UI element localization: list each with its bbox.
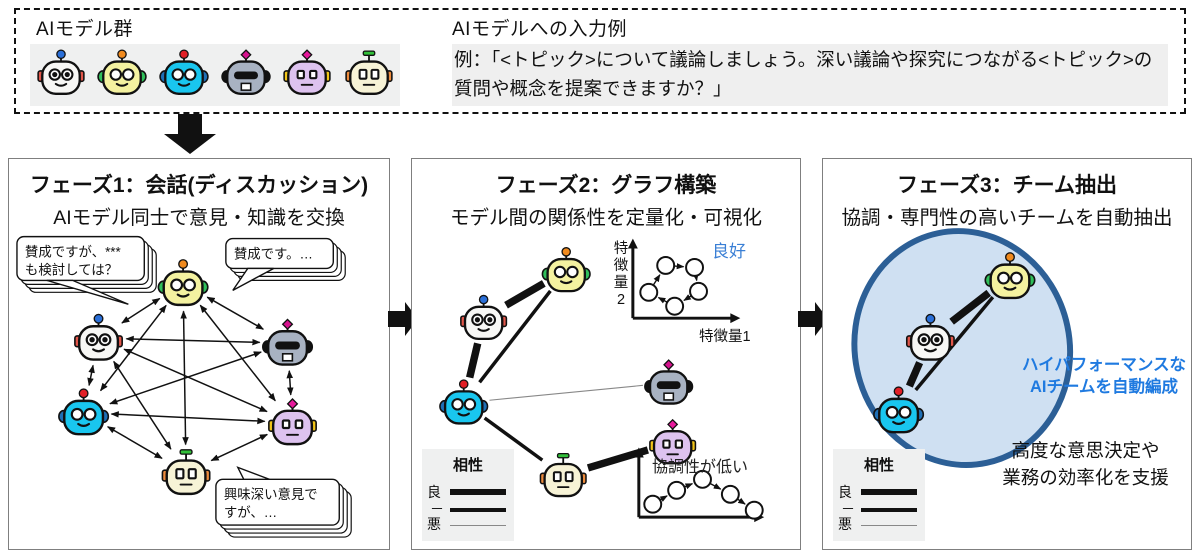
speech-bubble-bottom-line-2: すが、… — [224, 505, 277, 520]
edge-gray-purple — [289, 371, 290, 395]
node-robot-gray — [263, 319, 312, 364]
node-robot-cream — [162, 450, 209, 494]
phase2-panel: フェーズ2：グラフ構築 モデル間の関係性を定量化・可視化 — [411, 158, 801, 550]
phase3-legend: 相性 良 － 悪 — [833, 449, 925, 541]
good-chart-yarrow — [628, 239, 638, 249]
phase3-panel: フェーズ3：チーム抽出 協調・専門性の高いチームを自動抽出 — [822, 158, 1192, 550]
phase3-footer-text: 高度な意思決定や 業務の効率化を支援 — [983, 437, 1188, 491]
edge-white-yellow — [122, 299, 160, 323]
model-avatar-robot-cream — [343, 47, 395, 104]
node-robot-yellow — [158, 260, 207, 305]
models-group-title: AIモデル群 — [36, 14, 133, 41]
robot-gray-icon — [220, 47, 272, 99]
phase3-highlight-text: ハイパフォーマンスな AIチームを自動編成 — [1018, 354, 1190, 398]
phase2-legend-title: 相性 — [422, 454, 514, 475]
node-robot-purple — [269, 399, 316, 444]
node-robot-white — [75, 314, 122, 359]
bad-chart-link-3 — [738, 499, 745, 504]
edge-purple-yellow — [200, 305, 275, 400]
robot-cream-icon — [343, 47, 395, 99]
phase2-legend: 相性 良 － 悪 — [422, 449, 514, 541]
node-robot-white — [461, 295, 507, 338]
phase2-legend-bar-weak — [450, 525, 506, 526]
phase3-legend-bar-strong — [861, 489, 917, 495]
phase3-footer-line-2: 業務の効率化を支援 — [1002, 467, 1169, 488]
down-arrow-icon — [158, 114, 222, 154]
good-chart-point-3 — [690, 283, 707, 300]
node-robot-cyan — [59, 389, 108, 434]
model-avatar-robot-white — [35, 47, 87, 104]
edge-white-purple — [124, 349, 267, 411]
speech-bubble-left-line-1: 賛成ですが、*** — [25, 245, 121, 260]
prompt-example-title: AIモデルへの入力例 — [452, 14, 627, 41]
good-chart-link-0 — [654, 275, 660, 285]
bad-chart-point-3 — [722, 486, 739, 503]
speech-bubble-left-line-2: も検討しては？ — [25, 262, 118, 277]
bad-chart-link-0 — [660, 496, 667, 500]
model-avatar-robot-gray — [220, 47, 272, 104]
good-chart-link-4 — [658, 298, 666, 302]
node-robot-cream — [540, 454, 586, 496]
node-robot-cyan — [440, 380, 488, 423]
robot-white-icon — [35, 47, 87, 99]
good-chart-link-2 — [696, 276, 697, 280]
phase3-highlight-line-2: AIチームを自動編成 — [1030, 378, 1178, 396]
phase3-legend-bar-weak — [861, 525, 917, 526]
good-chart-point-4 — [666, 298, 683, 315]
phase3-legend-bar-medium — [861, 508, 917, 512]
node-robot-yellow — [542, 248, 590, 291]
speech-bubble-right-line-1: 賛成です。… — [234, 247, 313, 262]
robot-purple-icon — [281, 47, 333, 99]
phase1-network-graph: 賛成ですが、***も検討しては？賛成です。…興味深い意見ですが、… — [9, 159, 389, 549]
phase2-good-chart-xlabel: 特徴量1 — [699, 325, 751, 346]
good-chart-point-1 — [657, 257, 674, 274]
robot-cyan-icon — [158, 47, 210, 99]
phase2-legend-bad: 悪 — [427, 514, 441, 534]
bad-chart-link-2 — [710, 484, 720, 490]
speech-bubble-bottom-line-1: 興味深い意見で — [224, 486, 318, 502]
bad-chart-link-1 — [685, 484, 693, 487]
edge-white-gray — [126, 339, 259, 343]
model-avatar-robot-yellow — [96, 47, 148, 104]
phase3-legend-title: 相性 — [833, 454, 925, 475]
edge-cyan-white-strong — [470, 343, 478, 377]
phase3-highlight-line-1: ハイパフォーマンスな — [1022, 356, 1186, 374]
phase2-legend-bar-medium — [450, 508, 506, 512]
bad-chart-point-4 — [746, 502, 763, 519]
good-chart-point-2 — [686, 259, 703, 276]
edge-cyan-gray-weak — [489, 385, 642, 400]
prompt-line-2: 質問や概念を提案できますか？」 — [454, 74, 1164, 103]
edge-cyan-purple — [111, 414, 264, 421]
model-avatar-robot-purple — [281, 47, 333, 104]
phase2-good-chart-label: 良好 — [712, 237, 746, 262]
phase3-legend-bad: 悪 — [838, 514, 852, 534]
edge-white-cyan — [89, 365, 93, 385]
good-chart-point-0 — [640, 284, 657, 301]
phase1-panel: フェーズ1：会話(ディスカッション) AIモデル同士で意見・知識を交換 — [8, 158, 390, 550]
good-chart-xarrow — [730, 313, 740, 323]
edge-cream-purple — [211, 434, 267, 460]
phase3-footer-line-1: 高度な意思決定や — [1011, 440, 1159, 461]
edge-cyan-cream — [108, 427, 162, 459]
prompt-example-box: 例：「<トピック>について議論しましょう。深い議論や探究につながる<トピック>の… — [452, 44, 1168, 106]
bad-chart-point-0 — [644, 496, 661, 513]
prompt-line-1: 例：「<トピック>について議論しましょう。深い議論や探究につながる<トピック>の — [454, 45, 1164, 74]
edge-white-yellow-strong — [506, 283, 544, 305]
phase2-legend-bar-strong — [450, 489, 506, 495]
robot-yellow-icon — [96, 47, 148, 99]
bad-chart-point-1 — [668, 482, 685, 499]
node-robot-gray — [645, 360, 693, 403]
phase2-good-chart-ylabel: 特徴量2 — [613, 241, 629, 309]
model-strip — [30, 44, 400, 106]
phase2-bad-chart-label: 協調性が低い — [652, 453, 748, 477]
good-chart-link-3 — [684, 296, 691, 300]
speech-bubble-bottom-tail — [238, 467, 270, 479]
model-avatar-robot-cyan — [158, 47, 210, 104]
good-chart-link-1 — [675, 266, 684, 267]
